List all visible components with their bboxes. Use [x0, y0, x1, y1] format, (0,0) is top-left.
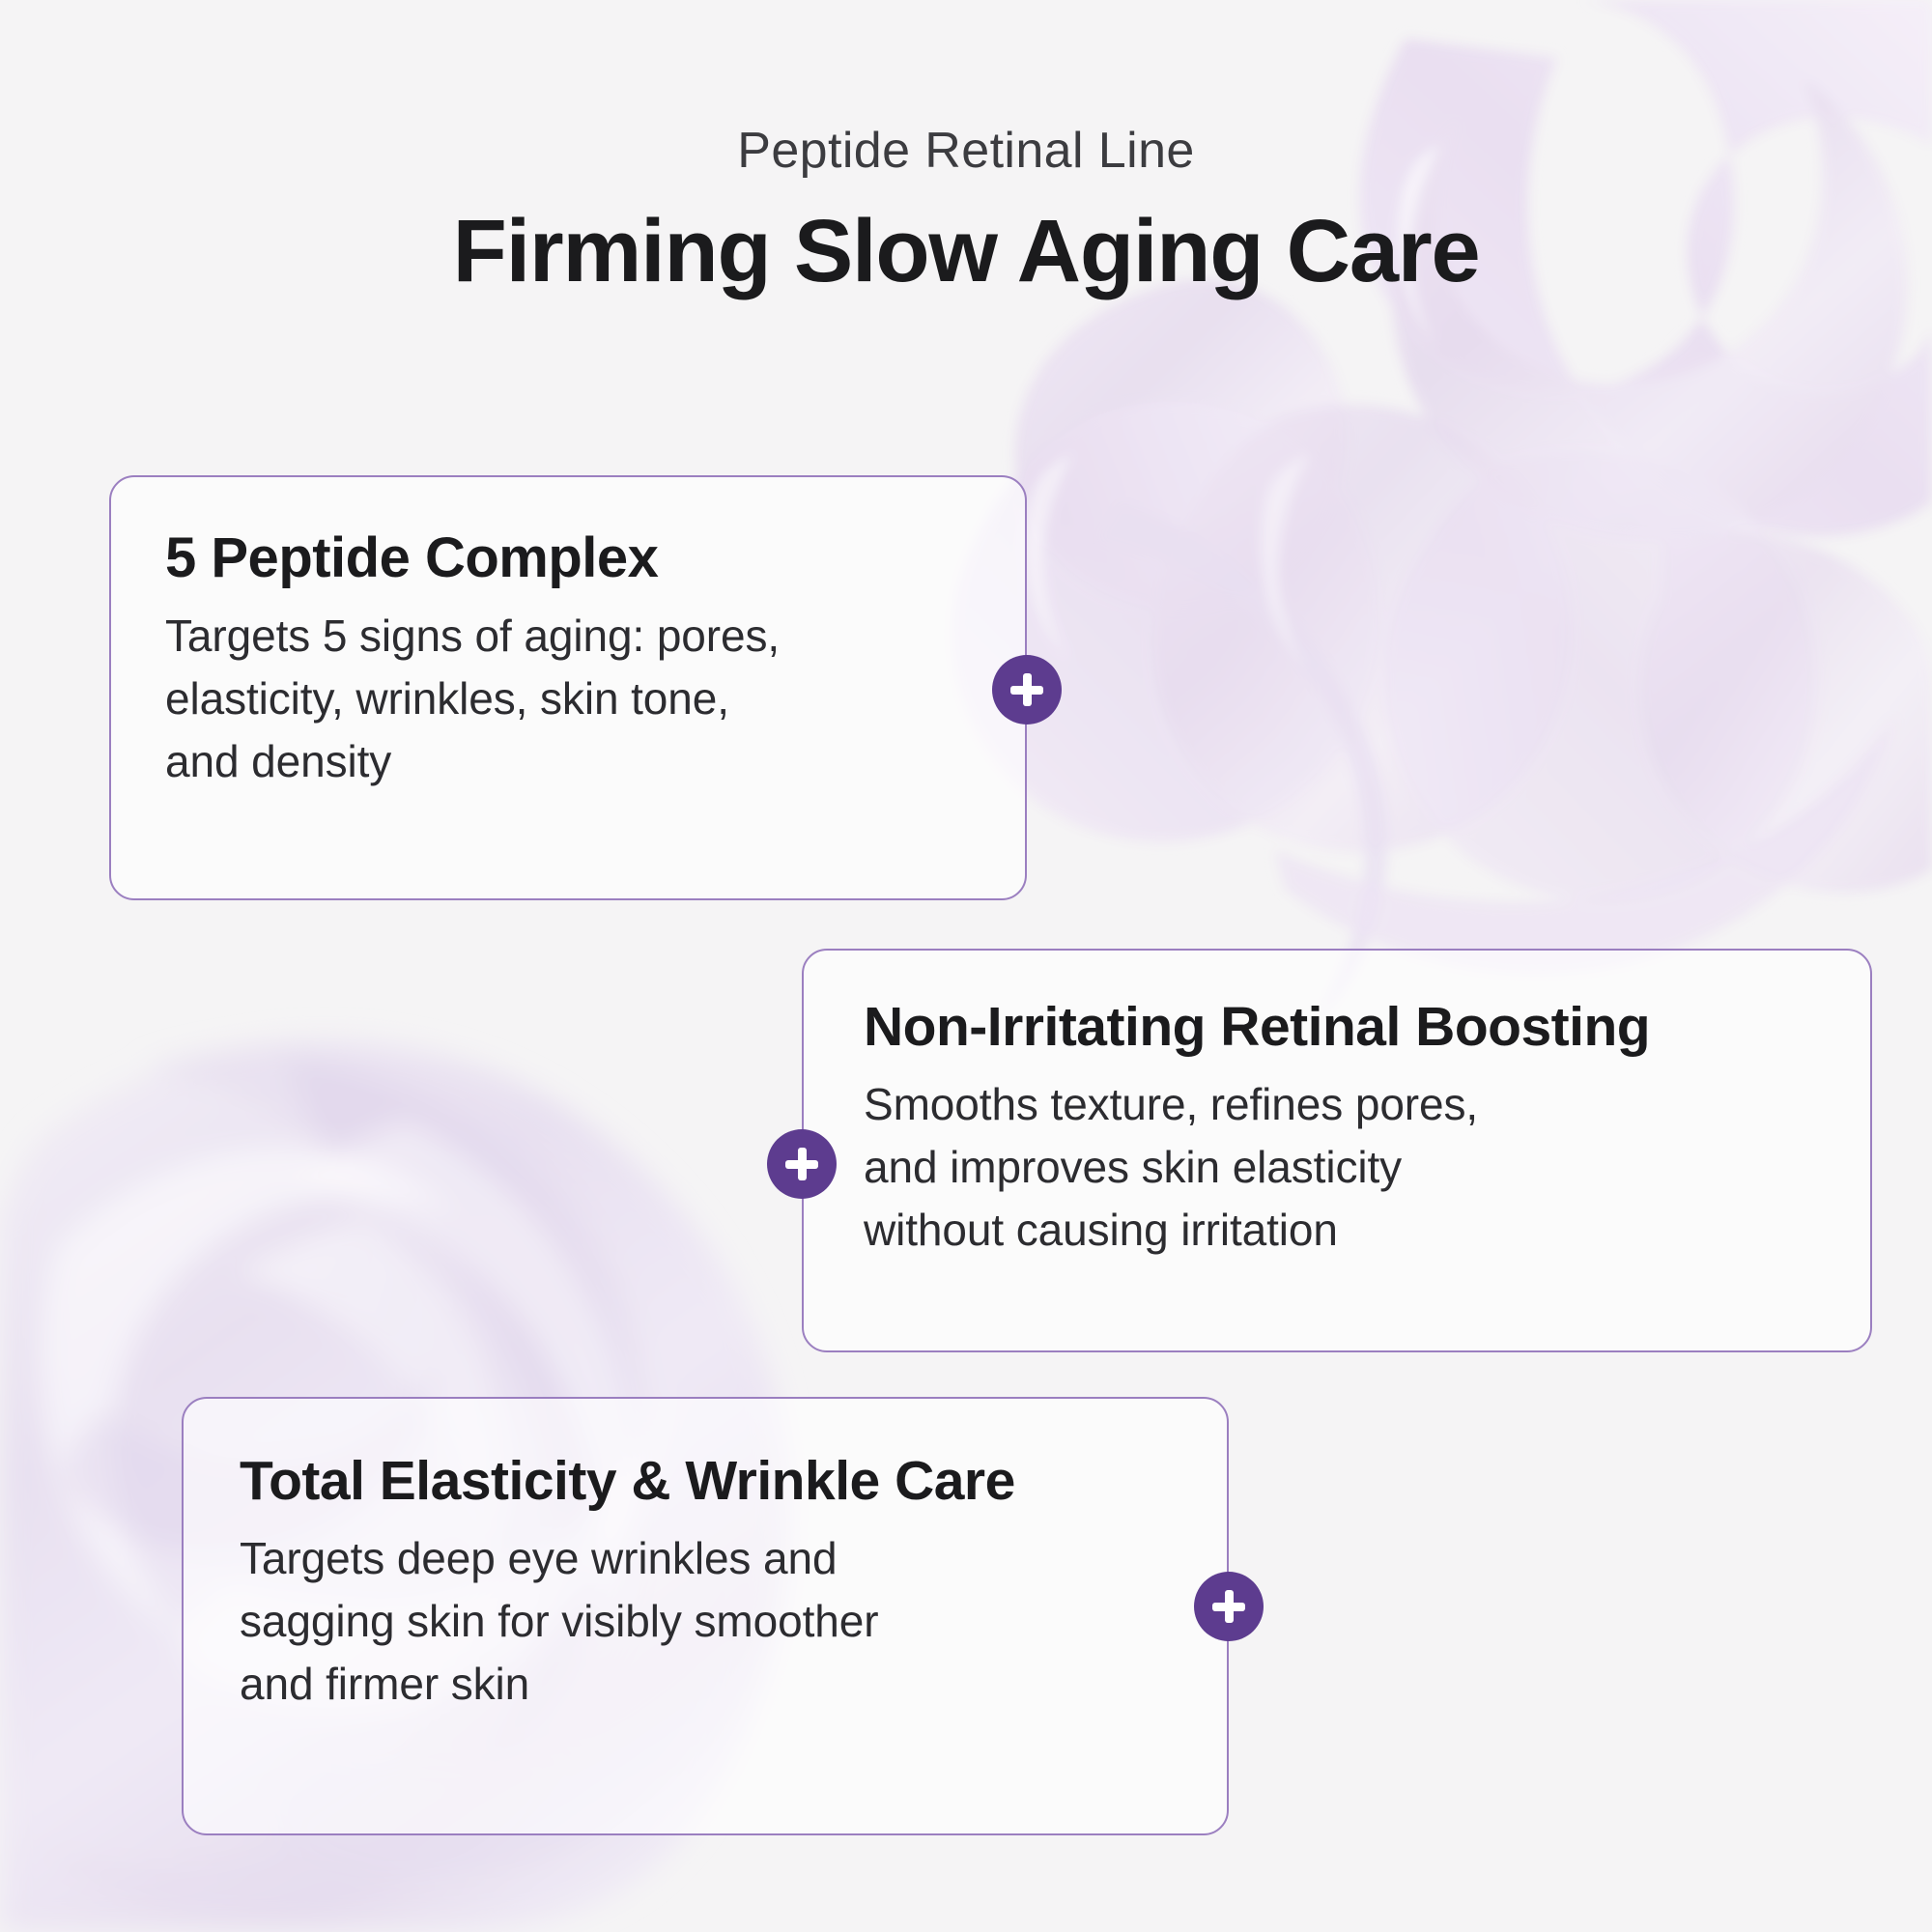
infographic-canvas: Peptide Retinal Line Firming Slow Aging …	[0, 0, 1932, 1932]
feature-card-title: Non-Irritating Retinal Boosting	[864, 997, 1816, 1058]
plus-icon[interactable]	[767, 1129, 837, 1199]
feature-card-peptide-complex[interactable]: 5 Peptide Complex Targets 5 signs of agi…	[109, 475, 1027, 900]
eyebrow-text: Peptide Retinal Line	[0, 124, 1932, 179]
feature-card-retinal-boosting[interactable]: Non-Irritating Retinal Boosting Smooths …	[802, 949, 1872, 1352]
feature-card-title: Total Elasticity & Wrinkle Care	[240, 1451, 1173, 1512]
feature-card-body: Targets deep eye wrinkles and sagging sk…	[240, 1527, 1173, 1717]
feature-card-body: Smooths texture, refines pores, and impr…	[864, 1073, 1816, 1263]
plus-icon-vertical-bar	[1225, 1590, 1234, 1623]
plus-icon[interactable]	[1194, 1572, 1264, 1641]
header-block: Peptide Retinal Line Firming Slow Aging …	[0, 124, 1932, 298]
plus-icon-vertical-bar	[798, 1148, 807, 1180]
plus-icon-vertical-bar	[1023, 673, 1032, 706]
feature-card-body: Targets 5 signs of aging: pores, elastic…	[165, 605, 971, 794]
plus-icon[interactable]	[992, 655, 1062, 724]
feature-card-title: 5 Peptide Complex	[165, 527, 971, 589]
page-title: Firming Slow Aging Care	[0, 206, 1932, 298]
feature-card-elasticity-wrinkle[interactable]: Total Elasticity & Wrinkle Care Targets …	[182, 1397, 1229, 1835]
